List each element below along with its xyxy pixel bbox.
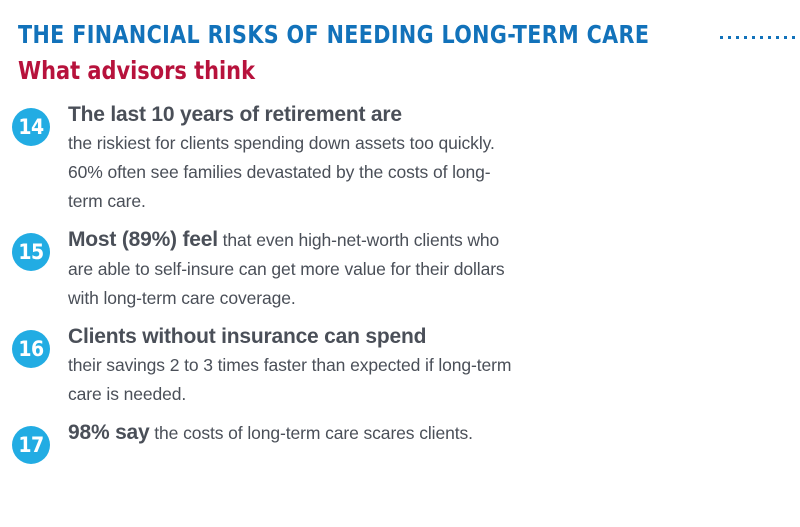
page-subtitle: What advisors think	[18, 56, 255, 86]
fact-text: 98% say the costs of long-term care scar…	[68, 418, 518, 448]
fact-text: The last 10 years of retirement arethe r…	[68, 100, 508, 216]
list-item: 14 The last 10 years of retirement areth…	[0, 100, 800, 216]
list-item: 17 98% say the costs of long-term care s…	[0, 418, 800, 464]
fact-number-badge: 15	[12, 233, 50, 271]
page-header: THE FINANCIAL RISKS OF NEEDING LONG-TERM…	[0, 0, 800, 96]
dotted-rule-divider	[720, 36, 800, 39]
title-row: THE FINANCIAL RISKS OF NEEDING LONG-TERM…	[18, 20, 800, 50]
fact-lead-text: 98% say	[68, 421, 150, 444]
fact-text: Most (89%) feel that even high-net-worth…	[68, 225, 523, 313]
fact-lead-text: The last 10 years of retirement are	[68, 100, 508, 129]
fact-body-text: the costs of long-term care scares clien…	[150, 423, 473, 443]
fact-number-badge: 17	[12, 426, 50, 464]
fact-body-text: their savings 2 to 3 times faster than e…	[68, 355, 511, 404]
fact-body-text: the riskiest for clients spending down a…	[68, 133, 495, 211]
facts-list: 14 The last 10 years of retirement areth…	[0, 100, 800, 473]
fact-number-badge: 16	[12, 330, 50, 368]
fact-text: Clients without insurance can spendtheir…	[68, 322, 533, 409]
fact-number-badge: 14	[12, 108, 50, 146]
fact-lead-text: Clients without insurance can spend	[68, 322, 533, 351]
list-item: 16 Clients without insurance can spendth…	[0, 322, 800, 409]
page-title: THE FINANCIAL RISKS OF NEEDING LONG-TERM…	[18, 20, 649, 50]
fact-lead-text: Most (89%) feel	[68, 228, 218, 251]
list-item: 15 Most (89%) feel that even high-net-wo…	[0, 225, 800, 313]
